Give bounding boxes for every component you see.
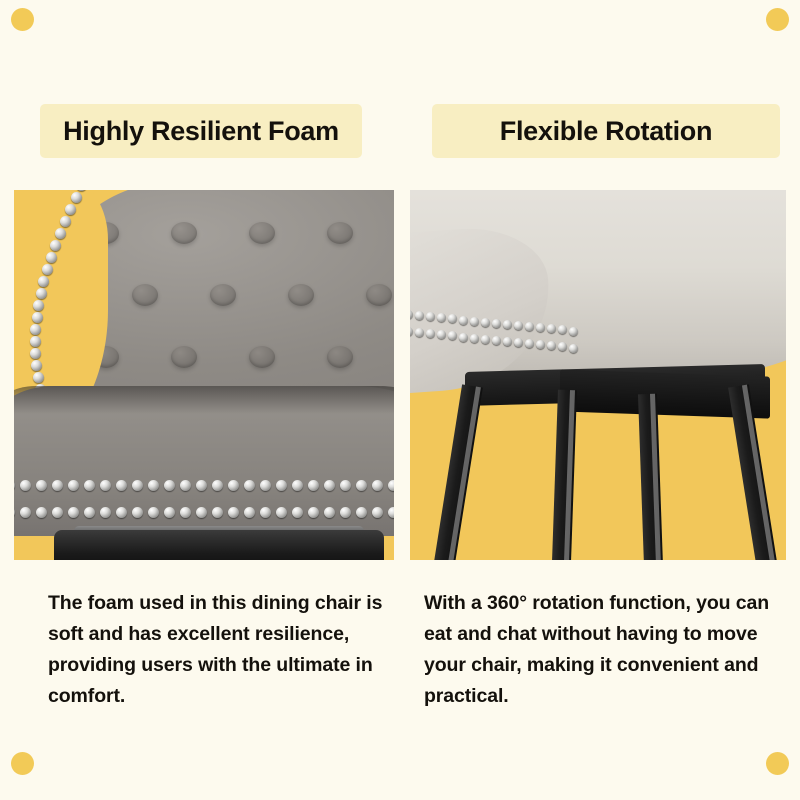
nailhead-stud [116, 480, 127, 491]
nailhead-stud [547, 324, 556, 333]
nailhead-stud [84, 480, 95, 491]
nailhead-stud [437, 330, 446, 339]
nailhead-stud [42, 264, 53, 275]
corner-dot-top-left [11, 8, 34, 31]
nailhead-stud [459, 333, 468, 342]
nailhead-stud [276, 480, 287, 491]
nailhead-stud [558, 342, 567, 351]
nailhead-stud [36, 480, 47, 491]
nailhead-stud [514, 338, 523, 347]
nailhead-stud [36, 288, 47, 299]
nailhead-stud [228, 507, 239, 518]
nailhead-trim-side [410, 310, 584, 370]
panel-heading-foam-label: Highly Resilient Foam [63, 116, 339, 147]
nailhead-stud [481, 335, 490, 344]
nailhead-trim-row-lower [14, 507, 394, 518]
nailhead-stud [196, 480, 207, 491]
infographic-page: Highly Resilient Foam Flexible Rotation [0, 0, 800, 800]
nailhead-stud [492, 336, 501, 345]
nailhead-stud [100, 480, 111, 491]
nailhead-stud [148, 480, 159, 491]
nailhead-stud [308, 480, 319, 491]
tufting-button [171, 222, 197, 244]
product-photo-foam [14, 190, 394, 560]
tufting-button [288, 284, 314, 306]
nailhead-stud [68, 480, 79, 491]
nailhead-stud [525, 322, 534, 331]
product-photo-rotation [410, 190, 786, 560]
tufting-button [249, 346, 275, 368]
nailhead-stud [372, 480, 383, 491]
nailhead-stud [32, 312, 43, 323]
tufting-button [171, 346, 197, 368]
chair-seat-shadow [14, 386, 394, 414]
nailhead-stud [388, 507, 394, 518]
nailhead-stud [132, 480, 143, 491]
nailhead-stud [84, 507, 95, 518]
chair-leg-front-left [434, 384, 483, 560]
nailhead-stud [340, 507, 351, 518]
nailhead-stud [196, 507, 207, 518]
nailhead-stud [36, 507, 47, 518]
nailhead-stud [212, 480, 223, 491]
nailhead-stud [148, 507, 159, 518]
nailhead-stud [410, 310, 413, 319]
nailhead-stud [356, 480, 367, 491]
nailhead-stud [132, 507, 143, 518]
panel-heading-foam: Highly Resilient Foam [40, 104, 362, 158]
nailhead-stud [292, 480, 303, 491]
panel-heading-rotation-label: Flexible Rotation [500, 116, 712, 147]
nailhead-stud [292, 507, 303, 518]
nailhead-stud [100, 507, 111, 518]
nailhead-stud [308, 507, 319, 518]
nailhead-stud [31, 360, 42, 371]
tufting-button [327, 346, 353, 368]
nailhead-stud [426, 329, 435, 338]
tufting-button [366, 284, 392, 306]
corner-dot-bottom-right [766, 752, 789, 775]
nailhead-stud [503, 337, 512, 346]
panel-caption-foam: The foam used in this dining chair is so… [48, 588, 388, 712]
nailhead-trim-row-upper [14, 480, 394, 491]
nailhead-stud [116, 507, 127, 518]
nailhead-stud [410, 327, 413, 336]
nailhead-stud [46, 252, 57, 263]
nailhead-stud [547, 341, 556, 350]
nailhead-stud [388, 480, 394, 491]
nailhead-stud [470, 334, 479, 343]
panel-caption-foam-text: The foam used in this dining chair is so… [48, 588, 388, 712]
nailhead-stud [276, 507, 287, 518]
nailhead-stud [244, 507, 255, 518]
nailhead-stud [260, 480, 271, 491]
nailhead-stud [372, 507, 383, 518]
nailhead-stud [415, 328, 424, 337]
nailhead-stud [324, 507, 335, 518]
nailhead-stud [356, 507, 367, 518]
nailhead-stud [459, 316, 468, 325]
nailhead-stud [30, 324, 41, 335]
nailhead-stud [71, 192, 82, 203]
corner-dot-top-right [766, 8, 789, 31]
product-photo-rotation-content [410, 190, 786, 560]
nailhead-stud [20, 507, 31, 518]
nailhead-stud [228, 480, 239, 491]
nailhead-stud [492, 319, 501, 328]
nailhead-stud [164, 480, 175, 491]
nailhead-stud [470, 317, 479, 326]
corner-dot-bottom-left [11, 752, 34, 775]
nailhead-stud [536, 323, 545, 332]
tufting-button [327, 222, 353, 244]
nailhead-stud [340, 480, 351, 491]
nailhead-stud [164, 507, 175, 518]
nailhead-stud [569, 344, 578, 353]
nailhead-stud [55, 228, 66, 239]
nailhead-stud [448, 314, 457, 323]
nailhead-stud [244, 480, 255, 491]
nailhead-stud [20, 480, 31, 491]
nailhead-stud [52, 480, 63, 491]
panel-caption-rotation-text: With a 360° rotation function, you can e… [424, 588, 786, 712]
panel-heading-rotation: Flexible Rotation [432, 104, 780, 158]
chair-leg-rear-left [552, 390, 577, 560]
nailhead-stud [52, 507, 63, 518]
nailhead-stud [38, 276, 49, 287]
nailhead-stud [30, 348, 41, 359]
tufting-button [249, 222, 275, 244]
nailhead-stud [426, 312, 435, 321]
nailhead-stud [448, 331, 457, 340]
nailhead-stud [180, 507, 191, 518]
swivel-base-plate [54, 530, 384, 560]
nailhead-stud [180, 480, 191, 491]
nailhead-stud [76, 190, 87, 191]
panel-caption-rotation: With a 360° rotation function, you can e… [424, 588, 786, 712]
product-photo-foam-content [14, 190, 394, 560]
nailhead-stud [437, 313, 446, 322]
nailhead-stud [212, 507, 223, 518]
nailhead-stud [50, 240, 61, 251]
nailhead-stud [68, 507, 79, 518]
nailhead-stud [415, 311, 424, 320]
nailhead-stud [33, 372, 44, 383]
tufting-button [210, 284, 236, 306]
nailhead-stud [33, 300, 44, 311]
nailhead-stud [30, 336, 41, 347]
nailhead-stud [536, 340, 545, 349]
nailhead-stud [481, 318, 490, 327]
chair-leg-rear-right [638, 394, 663, 560]
nailhead-stud [260, 507, 271, 518]
nailhead-stud [14, 480, 15, 491]
nailhead-stud [503, 320, 512, 329]
nailhead-stud [14, 507, 15, 518]
nailhead-stud [60, 216, 71, 227]
nailhead-stud [569, 327, 578, 336]
nailhead-stud [514, 321, 523, 330]
nailhead-stud [525, 339, 534, 348]
nailhead-stud [65, 204, 76, 215]
nailhead-stud [324, 480, 335, 491]
nailhead-stud [558, 325, 567, 334]
